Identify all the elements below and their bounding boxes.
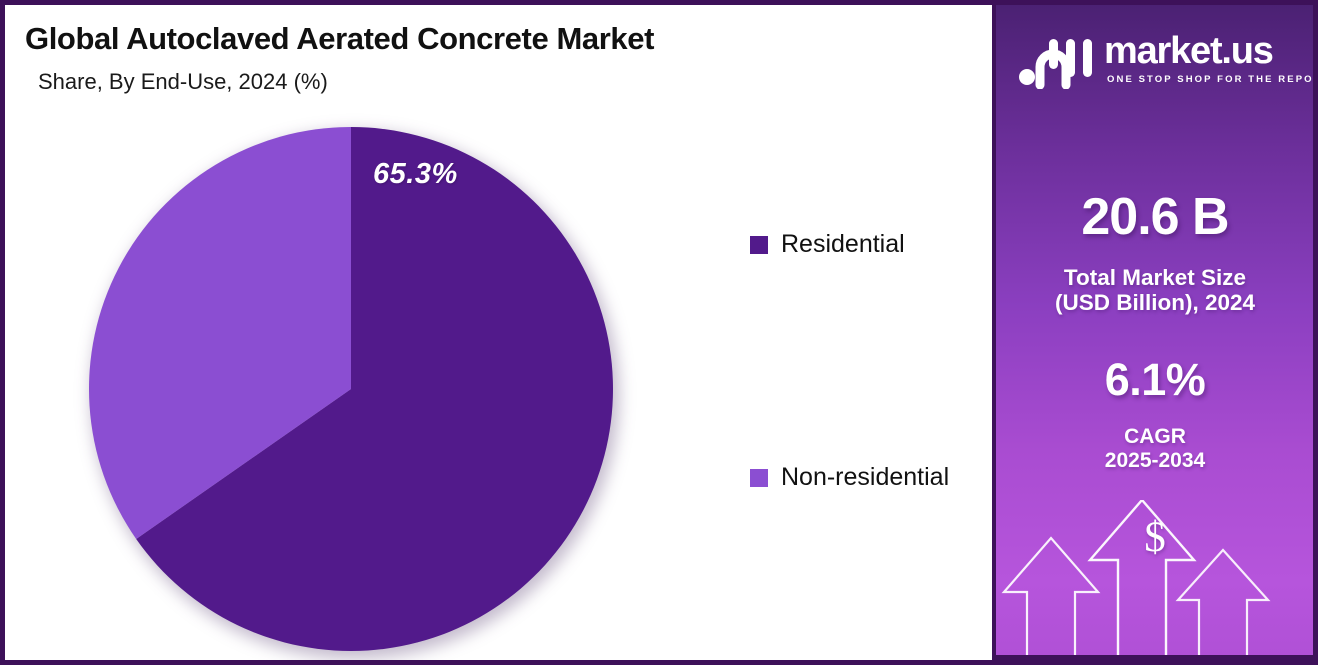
market-size-caption-line2: (USD Billion), 2024 (992, 290, 1318, 315)
pie-chart: 65.3% (87, 125, 615, 653)
legend-swatch-icon (750, 469, 768, 487)
pie-chart-svg (87, 125, 615, 653)
brand-logo[interactable]: market.us ONE STOP SHOP FOR THE REPORTS (1012, 31, 1302, 89)
brand-stats-panel: market.us ONE STOP SHOP FOR THE REPORTS … (992, 5, 1318, 660)
legend-item-label: Residential (781, 230, 905, 259)
legend-item-residential[interactable]: Residential (750, 230, 905, 259)
page-title: Global Autoclaved Aerated Concrete Marke… (25, 21, 654, 57)
market-size-value: 20.6 B (992, 191, 1318, 243)
market-report-infographic: Global Autoclaved Aerated Concrete Marke… (0, 0, 1318, 665)
market-size-caption-line1: Total Market Size (992, 265, 1318, 290)
brand-tagline: ONE STOP SHOP FOR THE REPORTS (1107, 74, 1318, 85)
brand-wordmark: market.us (1104, 32, 1273, 70)
market-size-caption: Total Market Size (USD Billion), 2024 (992, 265, 1318, 315)
chart-area: Global Autoclaved Aerated Concrete Marke… (5, 5, 992, 660)
cagr-caption: CAGR 2025-2034 (992, 425, 1318, 472)
growth-arrows-icon (992, 500, 1318, 660)
chart-subtitle: Share, By End-Use, 2024 (%) (38, 69, 328, 95)
legend-item-label: Non-residential (781, 463, 949, 492)
cagr-caption-line2: 2025-2034 (992, 449, 1318, 473)
legend-swatch-icon (750, 236, 768, 254)
panel-bottom-edge (992, 655, 1318, 660)
pie-slice-value-label: 65.3% (373, 158, 458, 191)
market-us-logo-icon (1018, 33, 1098, 89)
cagr-caption-line1: CAGR (992, 425, 1318, 449)
cagr-value: 6.1% (992, 357, 1318, 402)
legend-item-non-residential[interactable]: Non-residential (750, 463, 949, 492)
